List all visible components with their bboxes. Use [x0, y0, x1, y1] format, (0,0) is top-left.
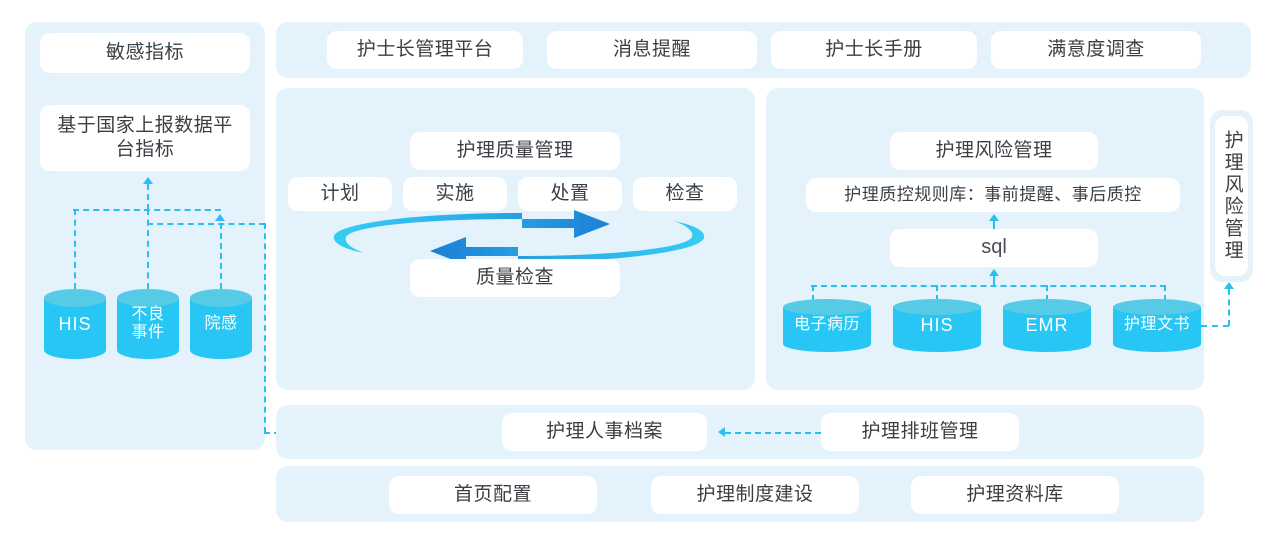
connector-doc-to-sidebar [1201, 325, 1229, 327]
card-satisfaction-survey[interactable]: 满意度调查 [991, 31, 1201, 69]
cylinder-top [1003, 299, 1091, 315]
db-label: 院感 [204, 315, 237, 333]
card-sql-layer[interactable]: sql [890, 229, 1098, 267]
arrow-up-to-risk-sidebar [1224, 282, 1234, 289]
db-label: HIS [58, 314, 91, 335]
card-national-platform-indicator[interactable]: 基于国家上报数据平台指标 [40, 105, 250, 171]
connector-sidebar-up [1228, 289, 1230, 326]
cylinder-top [44, 289, 106, 307]
connector-drop-his [74, 209, 76, 289]
cylinder-top [893, 299, 981, 315]
card-quality-rule-library[interactable]: 护理质控规则库：事前提醒、事后质控 [806, 178, 1180, 212]
connector-shift-to-hr [725, 432, 821, 434]
arrow-up-bus-join [215, 214, 225, 221]
card-nursing-system-construction[interactable]: 护理制度建设 [651, 476, 859, 514]
db-label: 电子病历 [794, 316, 860, 334]
db-nursing-document: 护理文书 [1113, 299, 1201, 352]
card-sensitive-indicator[interactable]: 敏感指标 [40, 33, 250, 73]
card-head-nurse-platform[interactable]: 护士长管理平台 [327, 31, 523, 69]
card-message-reminder[interactable]: 消息提醒 [547, 31, 757, 69]
db-electronic-medical-record: 电子病历 [783, 299, 871, 352]
card-nursing-quality-title[interactable]: 护理质量管理 [410, 132, 620, 170]
db-label: HIS [920, 315, 953, 336]
card-nursing-resource-library[interactable]: 护理资料库 [911, 476, 1119, 514]
arrow-left-shift-to-hr [718, 427, 725, 437]
connector-bus-lower [147, 223, 265, 225]
card-nursing-hr-file[interactable]: 护理人事档案 [502, 413, 707, 451]
db-his: HIS [44, 289, 106, 359]
card-nursing-risk-title[interactable]: 护理风险管理 [890, 132, 1098, 170]
db-hospital-infection: 院感 [190, 289, 252, 359]
arrow-up-db-to-sql [989, 269, 999, 276]
card-homepage-config[interactable]: 首页配置 [389, 476, 597, 514]
cylinder-top [190, 289, 252, 307]
connector-right-run-down [264, 223, 266, 433]
diagram-root: 敏感指标 基于国家上报数据平台指标 HIS 不良 事件 院感 护士长管理平台 消… [0, 0, 1276, 550]
cylinder-top [1113, 299, 1201, 315]
connector-drop-adverse-event [147, 209, 149, 289]
arrow-up-to-national-indicator [143, 177, 153, 184]
cylinder-top [783, 299, 871, 315]
arrow-up-sql-to-rules [989, 214, 999, 221]
db-emr: EMR [1003, 299, 1091, 352]
card-head-nurse-manual[interactable]: 护士长手册 [771, 31, 977, 69]
card-nursing-shift-management[interactable]: 护理排班管理 [821, 413, 1019, 451]
connector-db-bus [811, 285, 1166, 287]
db-label: 不良 事件 [131, 306, 164, 343]
connector-sql-to-rules [993, 221, 995, 229]
db-label: EMR [1026, 315, 1069, 336]
connector-drop-hospital-infection [220, 223, 222, 289]
card-quality-inspection[interactable]: 质量检查 [410, 259, 620, 297]
db-adverse-event: 不良 事件 [117, 289, 179, 359]
card-risk-management-sidebar[interactable]: 护理风险管理 [1215, 116, 1248, 276]
db-label: 护理文书 [1124, 316, 1190, 334]
cylinder-top [117, 289, 179, 307]
indicator-panel [25, 22, 265, 450]
connector-vertical-center-left [147, 184, 149, 210]
connector-db-bus-to-sql [993, 276, 995, 285]
db-his-right: HIS [893, 299, 981, 352]
